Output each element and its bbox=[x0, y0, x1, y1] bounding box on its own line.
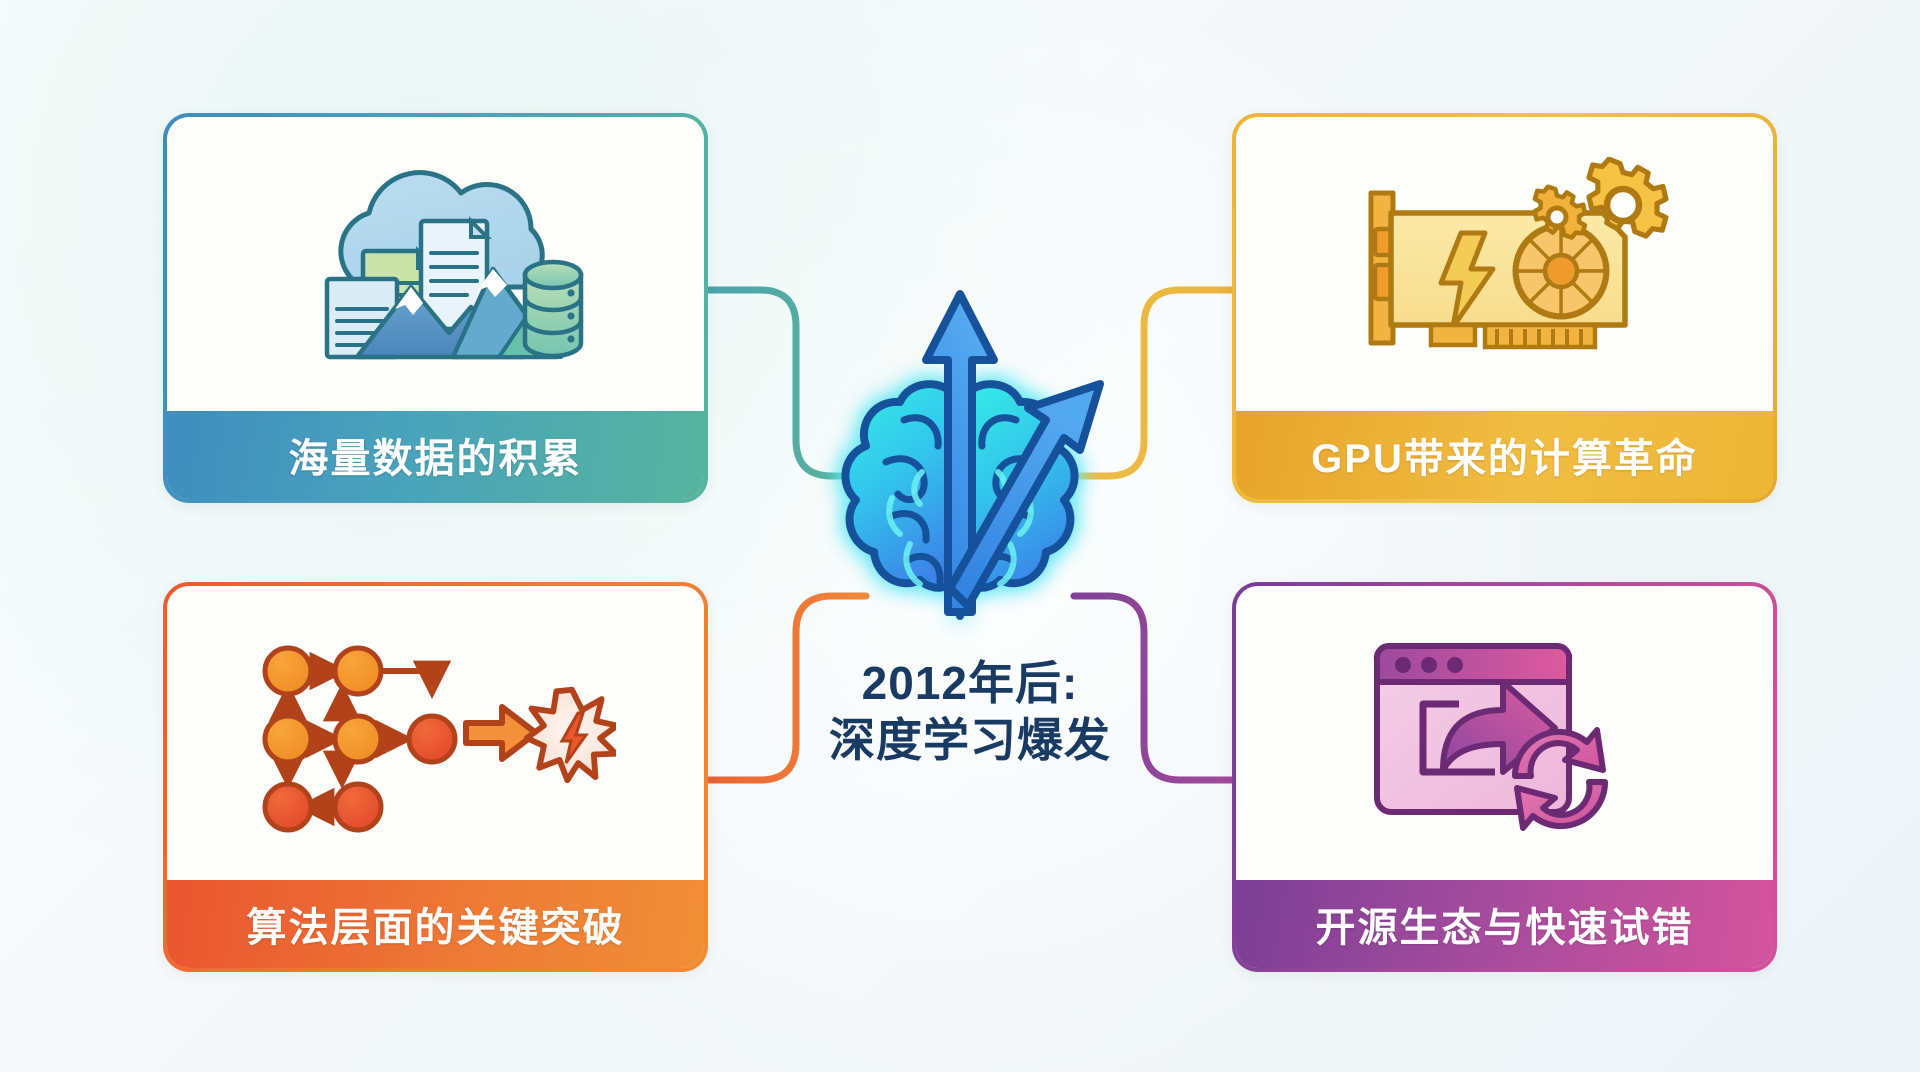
browser-share-refresh-icon bbox=[1355, 626, 1655, 841]
card-data-art bbox=[167, 117, 704, 411]
center-brain-node[interactable] bbox=[800, 272, 1140, 672]
card-algo[interactable]: 算法层面的关键突破 bbox=[163, 582, 708, 972]
center-caption: 2012年后: 深度学习爆发 bbox=[760, 655, 1180, 769]
cloud-data-documents-icon bbox=[271, 157, 601, 372]
card-oss-art bbox=[1236, 586, 1773, 880]
graphics-card-gears-icon bbox=[1335, 157, 1675, 372]
center-caption-line2: 深度学习爆发 bbox=[760, 712, 1180, 769]
card-gpu[interactable]: GPU带来的计算革命 bbox=[1232, 113, 1777, 503]
card-data[interactable]: 海量数据的积累 bbox=[163, 113, 708, 503]
card-gpu-art bbox=[1236, 117, 1773, 411]
neural-network-breakthrough-icon bbox=[256, 631, 616, 836]
card-algo-art bbox=[167, 586, 704, 880]
card-oss-label: 开源生态与快速试错 bbox=[1236, 880, 1773, 968]
card-oss[interactable]: 开源生态与快速试错 bbox=[1232, 582, 1777, 972]
center-caption-line1: 2012年后: bbox=[760, 655, 1180, 712]
brain-with-growth-arrows-icon bbox=[800, 272, 1140, 672]
infographic-canvas: 海量数据的积累 bbox=[0, 0, 1920, 1072]
card-gpu-label: GPU带来的计算革命 bbox=[1236, 411, 1773, 499]
card-data-label: 海量数据的积累 bbox=[167, 411, 704, 499]
card-algo-label: 算法层面的关键突破 bbox=[167, 880, 704, 968]
